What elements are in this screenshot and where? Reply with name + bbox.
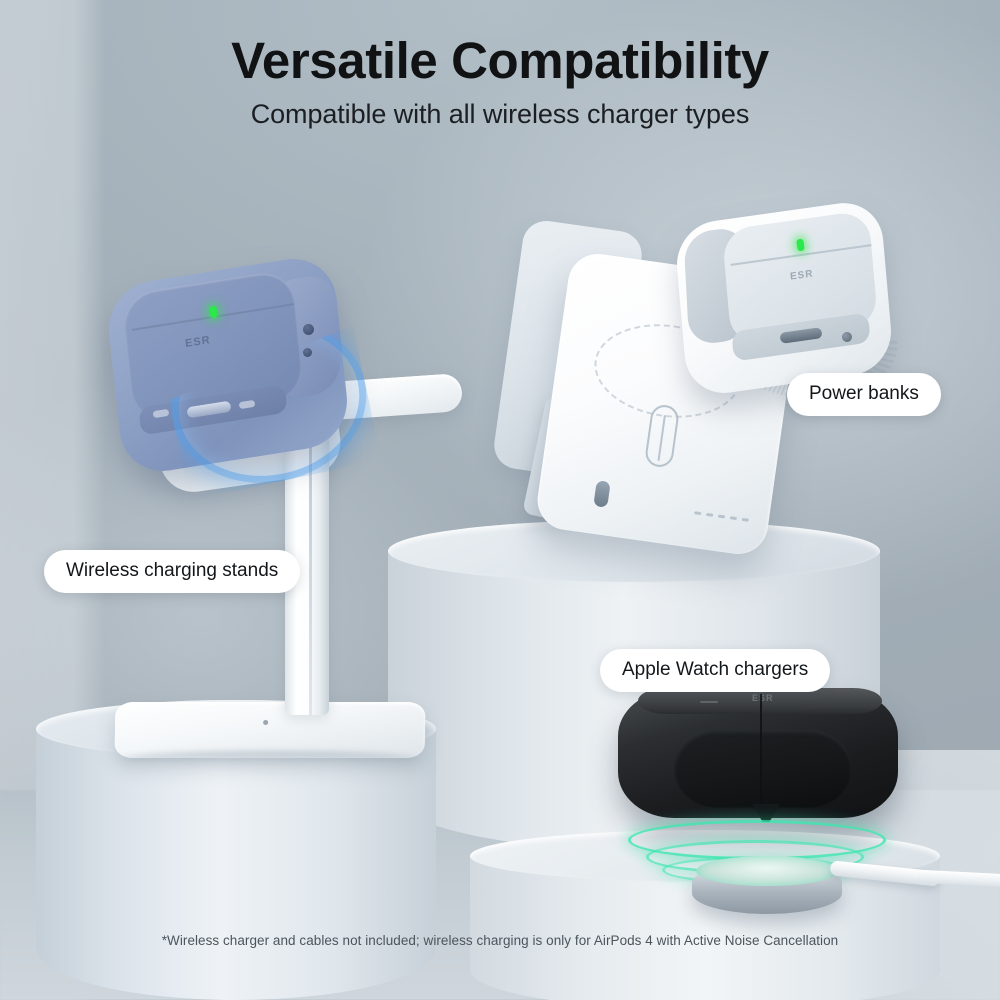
airpods-case-white: ESR — [680, 212, 888, 384]
airpods-case-blue: ESR — [113, 270, 343, 460]
page-subtitle: Compatible with all wireless charger typ… — [0, 99, 1000, 130]
apple-watch-puck-surface — [696, 856, 838, 886]
stand-base-indicator — [263, 720, 268, 725]
power-bank: ESR — [498, 215, 828, 555]
wireless-charging-stand: ESR — [95, 270, 465, 760]
callout-wireless-charging-stands: Wireless charging stands — [44, 550, 300, 593]
stand-base — [115, 702, 426, 758]
page-title: Versatile Compatibility — [0, 34, 1000, 88]
header-block: Versatile Compatibility Compatible with … — [0, 34, 1000, 130]
apple-watch-charger-group: ESR — [600, 680, 930, 910]
footnote-disclaimer: *Wireless charger and cables not include… — [0, 933, 1000, 948]
black-case-inner-panel — [674, 730, 852, 808]
charging-led-green-icon — [796, 239, 805, 252]
esr-logo: ESR — [752, 693, 774, 703]
callout-power-banks: Power banks — [787, 373, 941, 416]
blue-case-lanyard-hole — [303, 324, 314, 335]
product-scene: ESR ESR — [0, 0, 1000, 1000]
black-case-lid-split — [760, 694, 762, 816]
pedestal-left-body — [36, 728, 436, 1000]
callout-apple-watch-chargers: Apple Watch chargers — [600, 649, 830, 692]
black-case-seam-mark — [700, 701, 718, 703]
